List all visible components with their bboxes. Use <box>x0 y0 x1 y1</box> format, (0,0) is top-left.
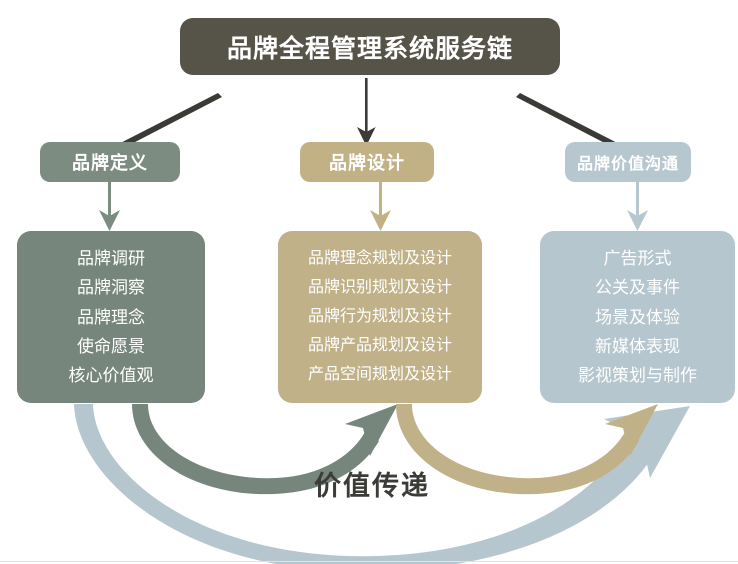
flow-caption: 价值传递 <box>292 466 452 500</box>
stage-pill-brand-design[interactable]: 品牌设计 <box>300 142 434 182</box>
list-item: 品牌产品规划及设计 <box>278 332 482 361</box>
connector-title-to-stage2 <box>357 78 376 146</box>
stage-box-brand-value-communication: 广告形式 公关及事件 场景及体验 新媒体表现 影视策划与制作 <box>540 231 735 403</box>
stage-pill-brand-value-communication[interactable]: 品牌价值沟通 <box>565 142 691 182</box>
list-item: 使命愿景 <box>17 332 205 361</box>
list-item: 产品空间规划及设计 <box>278 361 482 390</box>
list-item: 品牌调研 <box>17 244 205 273</box>
diagram-canvas: 品牌全程管理系统服务链 品牌定义 品牌设计 品牌价值沟通 品牌调研 品牌洞察 品… <box>0 0 738 564</box>
list-item: 影视策划与制作 <box>540 361 735 390</box>
list-item: 核心价值观 <box>17 361 205 390</box>
connector-stage3-pill-to-box <box>627 182 648 231</box>
bottom-divider <box>0 561 738 562</box>
list-item: 公关及事件 <box>540 273 735 302</box>
list-item: 品牌理念规划及设计 <box>278 244 482 273</box>
list-item: 品牌识别规划及设计 <box>278 273 482 302</box>
list-item: 场景及体验 <box>540 302 735 331</box>
list-item: 品牌行为规划及设计 <box>278 302 482 331</box>
list-item: 新媒体表现 <box>540 332 735 361</box>
stage-box-brand-design: 品牌理念规划及设计 品牌识别规划及设计 品牌行为规划及设计 品牌产品规划及设计 … <box>278 231 482 403</box>
stage-box-brand-definition: 品牌调研 品牌洞察 品牌理念 使命愿景 核心价值观 <box>17 231 205 403</box>
stage-pill-brand-definition[interactable]: 品牌定义 <box>40 142 180 182</box>
connector-stage2-pill-to-box <box>370 182 391 231</box>
list-item: 品牌理念 <box>17 302 205 331</box>
list-item: 品牌洞察 <box>17 273 205 302</box>
diagram-title: 品牌全程管理系统服务链 <box>180 18 560 75</box>
list-item: 广告形式 <box>540 244 735 273</box>
connector-stage1-pill-to-box <box>99 182 120 231</box>
